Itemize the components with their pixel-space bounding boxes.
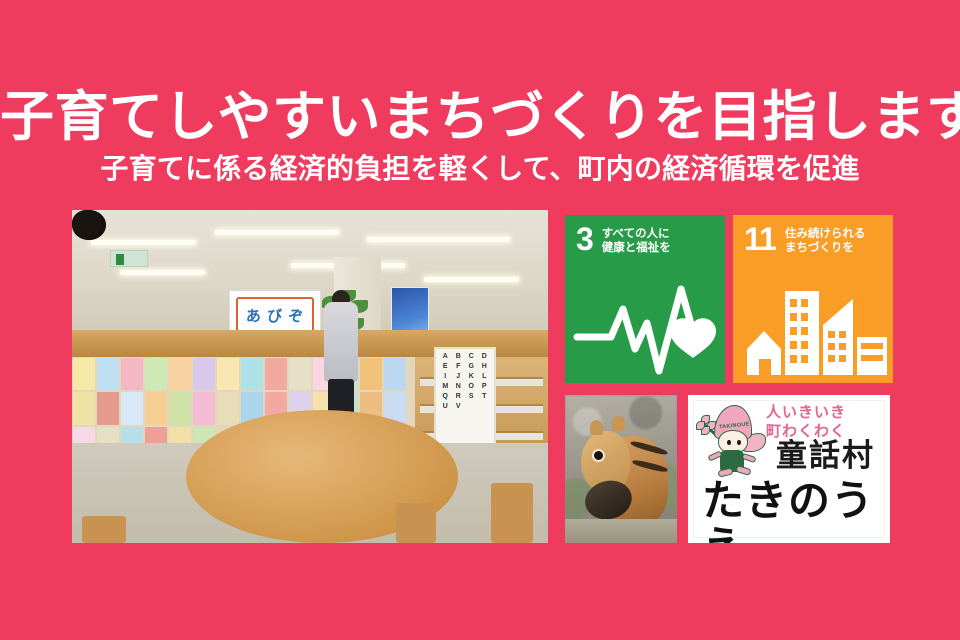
takinoue-town-logo: TAKINOUE 人いきいき 町わくわく 童話村 たきのうえ xyxy=(688,395,890,543)
sdg-3-label: すべての人に 健康と福祉を xyxy=(602,226,671,255)
ceiling-lamp xyxy=(120,270,206,275)
library-children-photo: あ び ぞ ABCDEFGH IJKLMNOP QRSTUV xyxy=(72,210,548,543)
sdg-3-number: 3 xyxy=(576,226,593,252)
chair xyxy=(396,503,436,543)
chipmunk-ear xyxy=(612,416,625,431)
chair xyxy=(82,516,126,543)
sdg-3-header: 3 すべての人に 健康と福祉を xyxy=(565,215,725,255)
ceiling-lamp xyxy=(424,277,519,282)
gravel-ground xyxy=(565,519,677,543)
sdg-3-label-line1: すべての人に xyxy=(602,227,671,241)
city-buildings-icon xyxy=(733,279,893,375)
ceiling-lamp xyxy=(91,240,196,245)
mascot-eye xyxy=(727,440,731,445)
mascot-eye xyxy=(737,440,741,445)
heartbeat-heart-icon xyxy=(565,279,725,375)
logo-tagline: 人いきいき 町わくわく xyxy=(766,403,846,441)
sdg-11-header: 11 住み続けられる まちづくりを xyxy=(733,215,893,255)
chipmunk-photo xyxy=(565,395,677,543)
sdg-icon-row: 3 すべての人に 健康と福祉を 11 住み続けられる まちづくりを xyxy=(565,215,893,383)
sdg-card-3: 3 すべての人に 健康と福祉を xyxy=(565,215,725,383)
exit-sign-icon xyxy=(110,250,148,267)
chipmunk-ear xyxy=(590,420,603,435)
takinoue-mascot-icon: TAKINOUE xyxy=(696,403,770,481)
sdg-11-number: 11 xyxy=(744,226,776,252)
mascot-flower-icon xyxy=(696,415,716,435)
ceiling-lamp xyxy=(215,230,339,235)
page-subtitle: 子育てに係る経済的負担を軽くして、町内の経済循環を促進 xyxy=(0,152,960,186)
logo-tagline-line1: 人いきいき xyxy=(766,403,846,422)
logo-kana-text: たきのうえ xyxy=(702,478,890,543)
logo-kanji-text: 童話村 xyxy=(776,440,875,472)
banner-heading-block: 子育てしやすいまちづくりを目指します 子育てに係る経済的負担を軽くして、町内の経… xyxy=(0,88,960,186)
sdg-11-label-line2: まちづくりを xyxy=(785,241,866,255)
chair xyxy=(491,483,533,543)
sdg-3-label-line2: 健康と福祉を xyxy=(602,241,671,255)
sdg-11-label: 住み続けられる まちづくりを xyxy=(785,226,866,255)
ceiling-lamp xyxy=(367,237,510,242)
page-title: 子育てしやすいまちづくりを目指します xyxy=(0,88,960,146)
sdg-11-label-line1: 住み続けられる xyxy=(785,227,866,241)
mascot-leg xyxy=(735,465,751,476)
sdg-card-11: 11 住み続けられる まちづくりを xyxy=(733,215,893,383)
